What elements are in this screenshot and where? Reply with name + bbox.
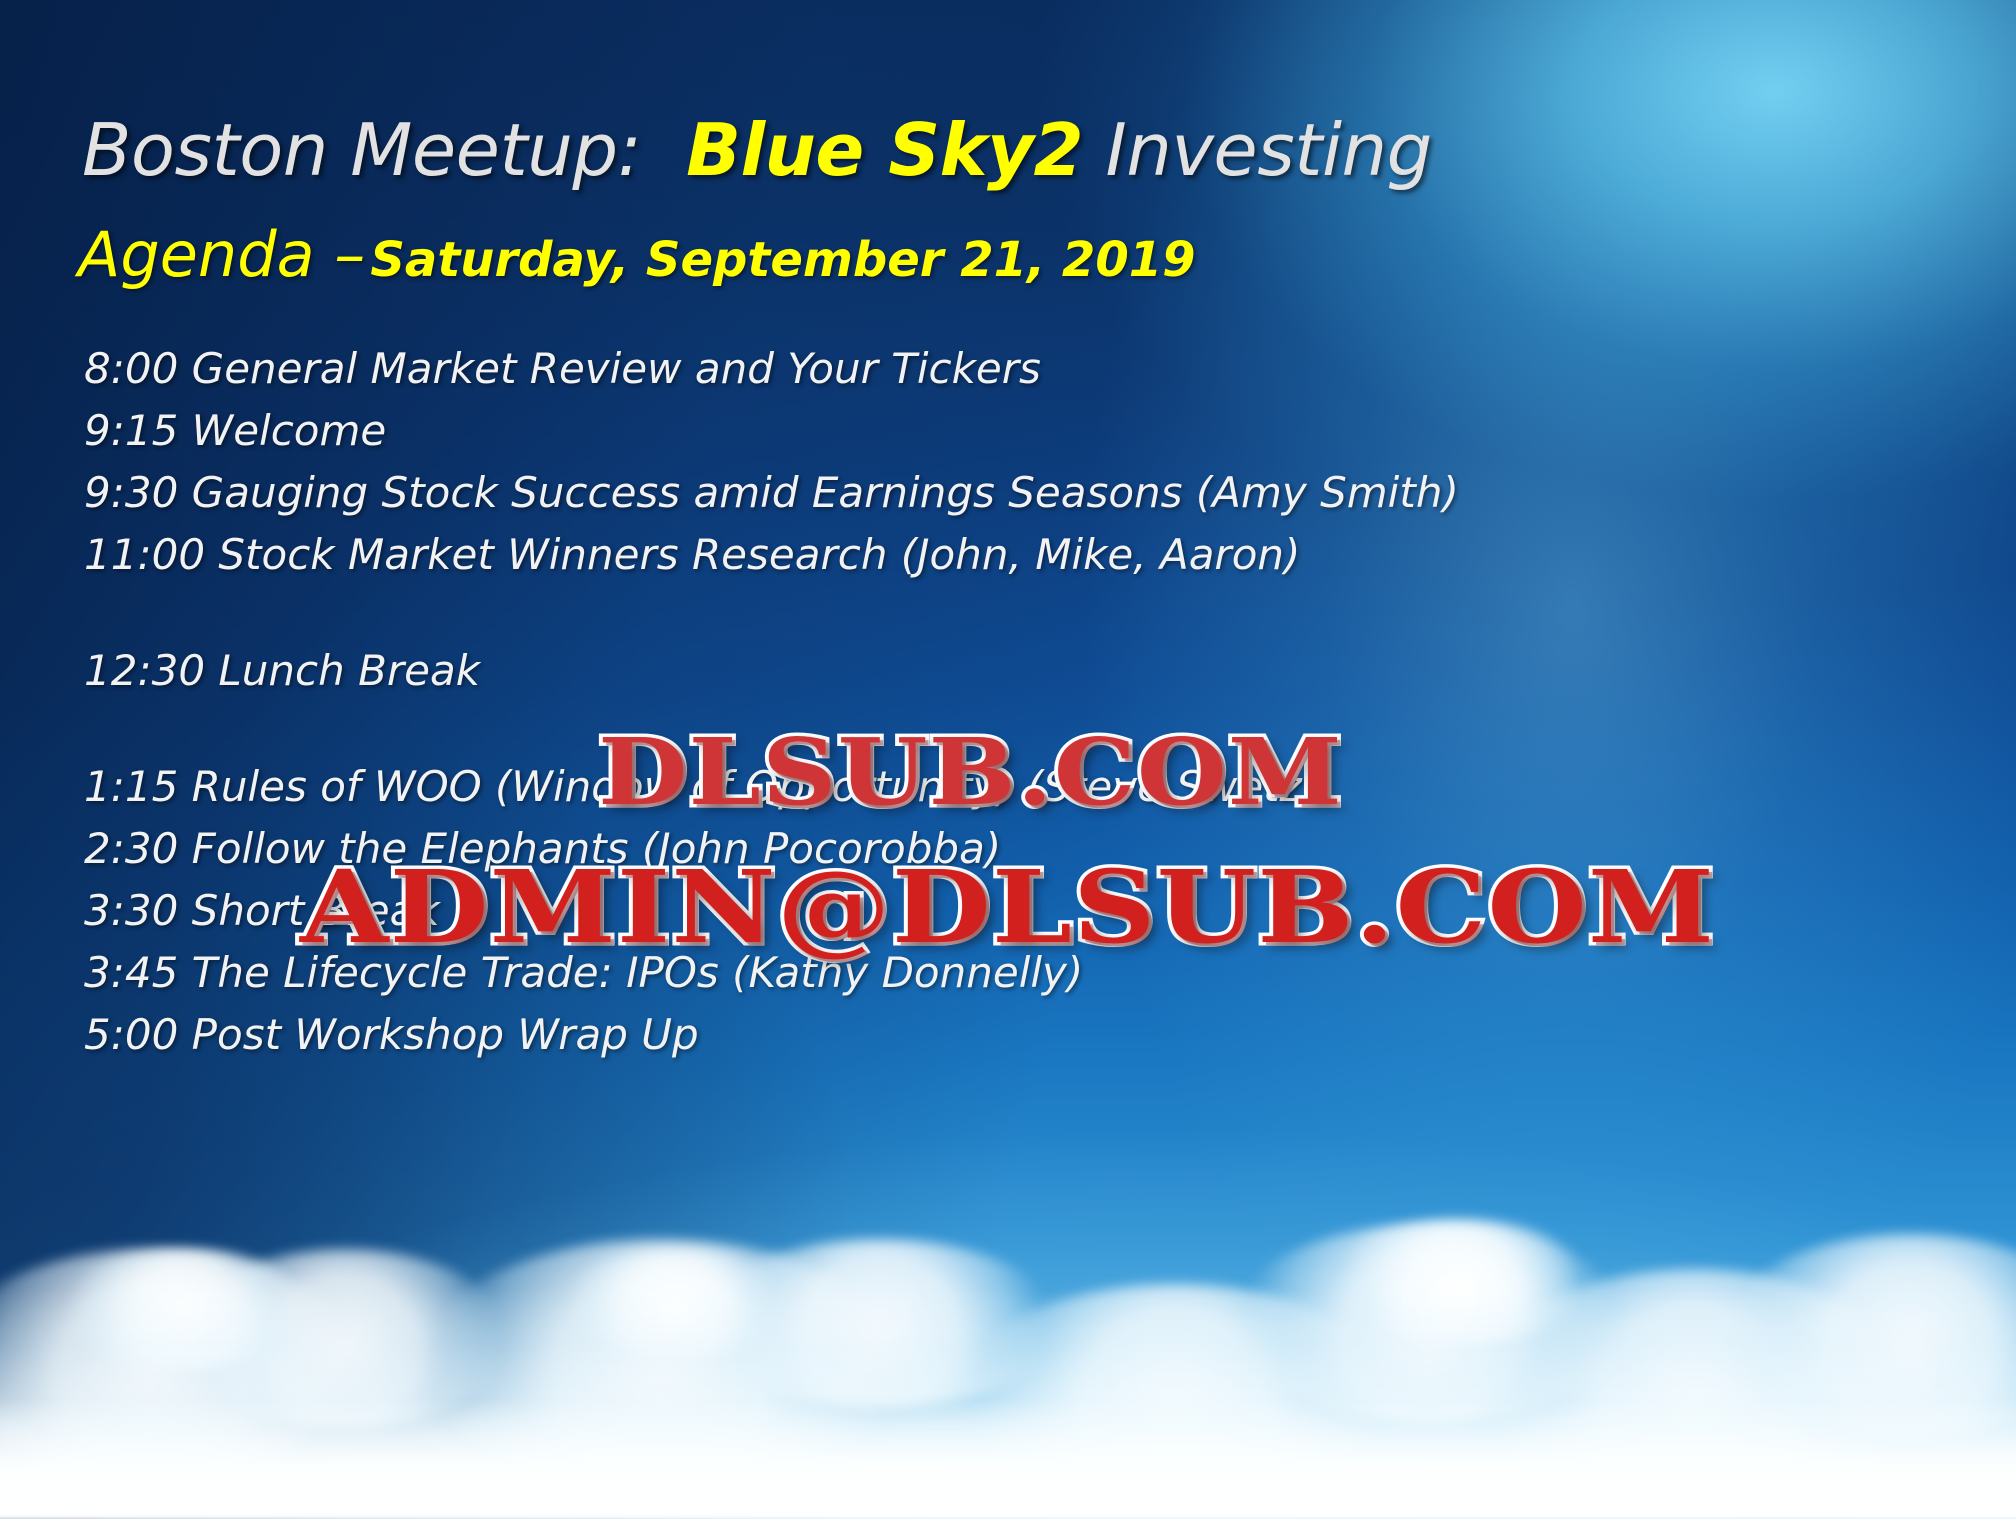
agenda-item: 12:30 Lunch Break	[84, 640, 1644, 702]
slide-content: Boston Meetup: Blue Sky2 Investing Agend…	[0, 0, 2016, 1519]
title-highlight-blue-sky2: Blue Sky2	[686, 108, 1083, 192]
title-part-one: Boston Meetup:	[82, 108, 641, 192]
agenda-label: Agenda –	[78, 218, 365, 291]
presentation-slide: Boston Meetup: Blue Sky2 Investing Agend…	[0, 0, 2016, 1519]
watermark-site: DLSUB.COM	[598, 718, 1343, 826]
watermark-email: ADMIN@DLSUB.COM	[300, 848, 1715, 966]
agenda-heading: Agenda – Saturday, September 21, 2019	[78, 218, 1196, 291]
agenda-item: 9:30 Gauging Stock Success amid Earnings…	[84, 462, 1644, 524]
agenda-item: 11:00 Stock Market Winners Research (Joh…	[84, 524, 1644, 586]
slide-title: Boston Meetup: Blue Sky2 Investing	[82, 108, 1432, 192]
agenda-item: 5:00 Post Workshop Wrap Up	[84, 1004, 1644, 1066]
agenda-item: 9:15 Welcome	[84, 400, 1644, 462]
agenda-date: Saturday, September 21, 2019	[370, 232, 1195, 288]
title-part-three: Investing	[1105, 108, 1431, 192]
agenda-item: 8:00 General Market Review and Your Tick…	[84, 338, 1644, 400]
